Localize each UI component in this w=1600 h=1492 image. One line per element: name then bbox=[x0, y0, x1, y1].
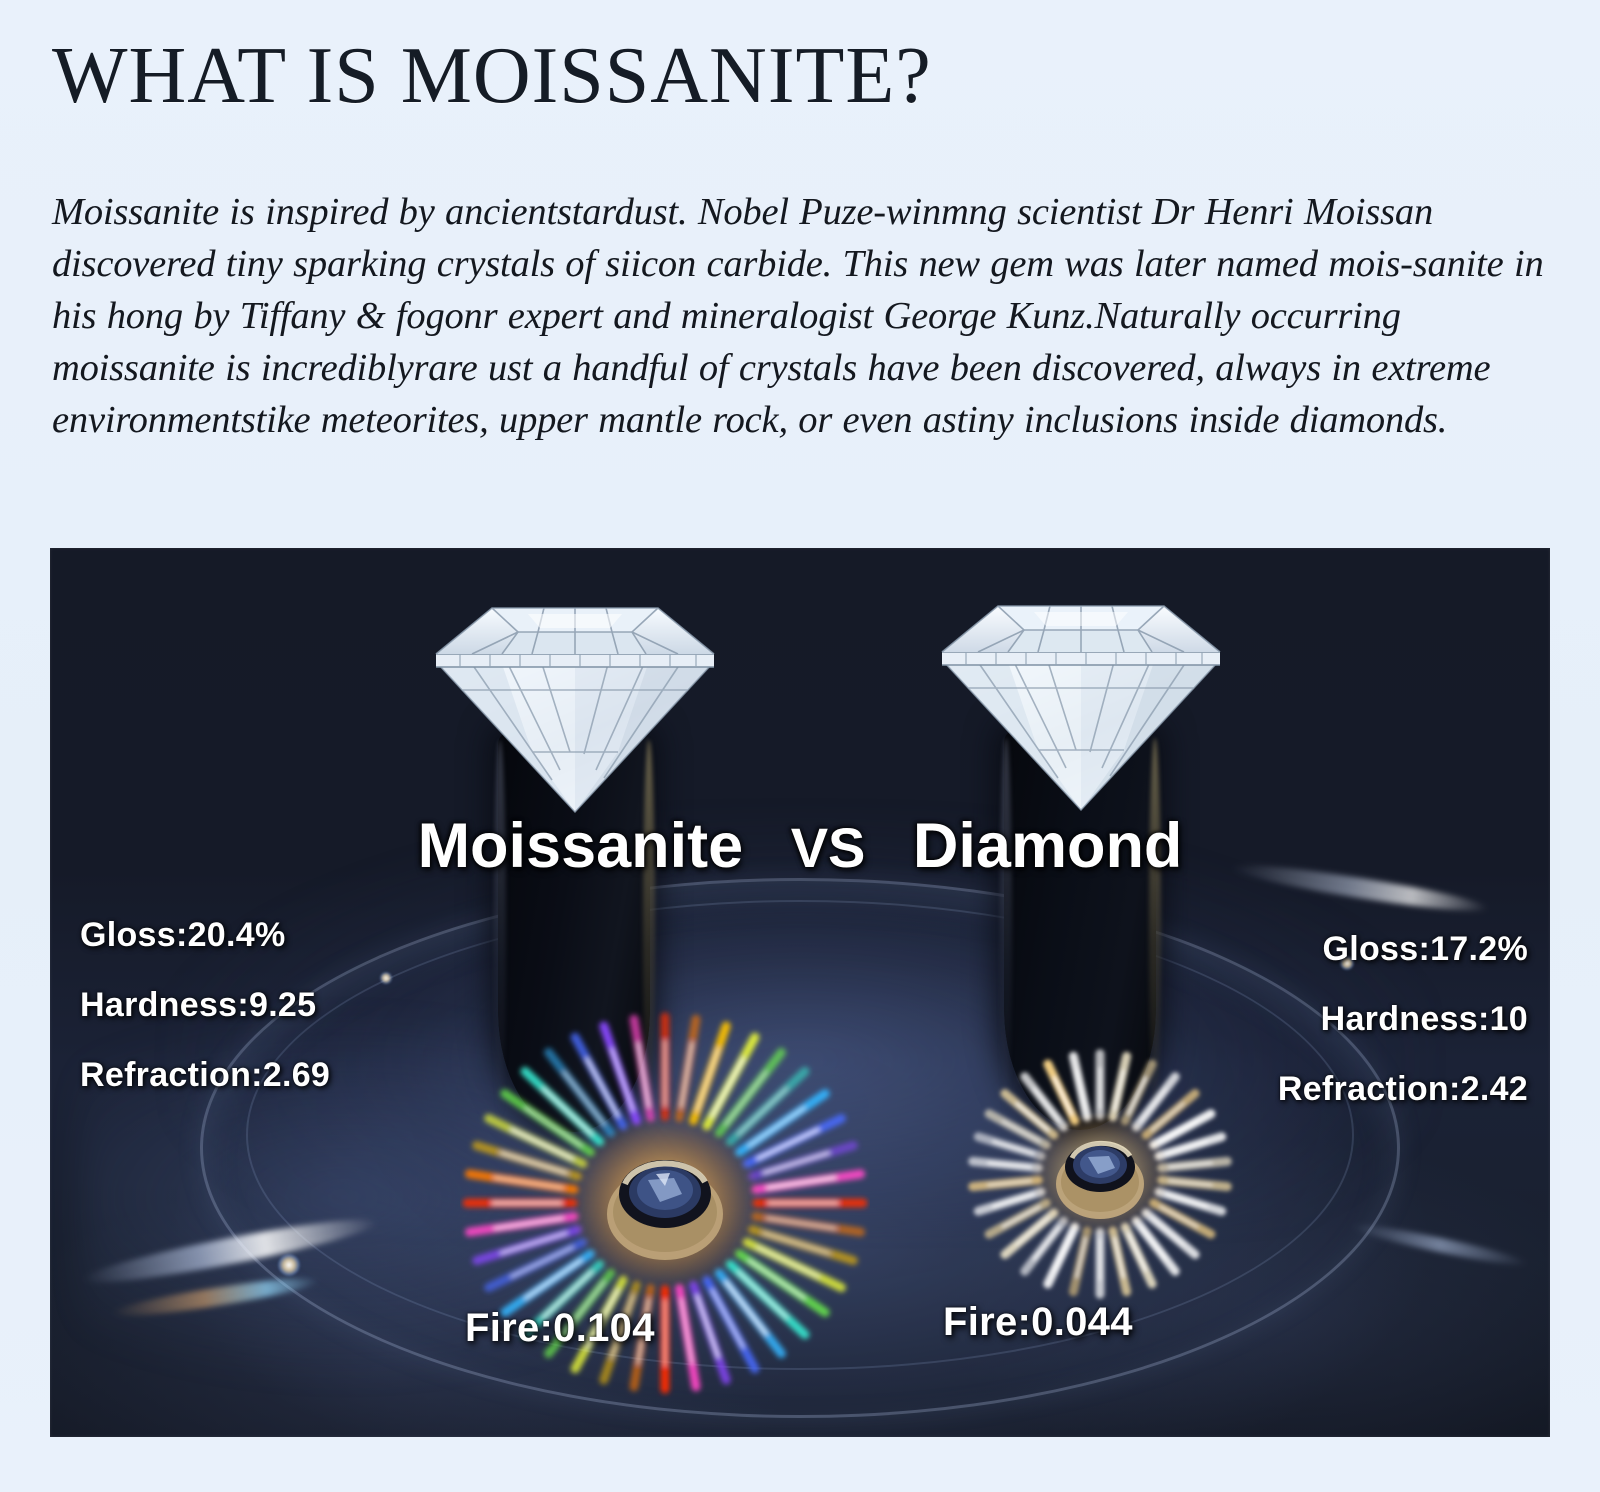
white-starburst-icon bbox=[955, 1026, 1245, 1316]
hero-right-name: Diamond bbox=[909, 811, 1187, 881]
moissanite-fire-label: Fire:0.104 bbox=[465, 1306, 655, 1351]
spec-refraction: Refraction:2.69 bbox=[80, 1056, 330, 1095]
hero-left-name: Moissanite bbox=[414, 811, 748, 881]
hero-heading: Moissanite VS Diamond bbox=[50, 810, 1550, 882]
comparison-hero-panel: Moissanite VS Diamond Gloss:20.4% Hardne… bbox=[50, 548, 1550, 1437]
moissanite-spec-list: Gloss:20.4% Hardness:9.25 Refraction:2.6… bbox=[80, 916, 330, 1126]
diamond-fire-label: Fire:0.044 bbox=[943, 1300, 1133, 1345]
diamond-gem-icon bbox=[432, 602, 718, 816]
diamond-gem-icon bbox=[938, 600, 1224, 814]
intro-paragraph: Moissanite is inspired by ancientstardus… bbox=[52, 186, 1552, 446]
page-title: WHAT IS MOISSANITE? bbox=[52, 36, 932, 116]
sparkle-icon bbox=[278, 1254, 300, 1276]
spec-hardness: Hardness:10 bbox=[1278, 1000, 1528, 1039]
spec-gloss: Gloss:20.4% bbox=[80, 916, 330, 955]
hero-separator: VS bbox=[765, 816, 892, 879]
sparkle-icon bbox=[380, 972, 392, 984]
light-streak bbox=[1351, 1219, 1530, 1270]
page-root: WHAT IS MOISSANITE? Moissanite is inspir… bbox=[0, 0, 1600, 1492]
diamond-spec-list: Gloss:17.2% Hardness:10 Refraction:2.42 bbox=[1278, 930, 1528, 1140]
spec-gloss: Gloss:17.2% bbox=[1278, 930, 1528, 969]
spec-refraction: Refraction:2.42 bbox=[1278, 1070, 1528, 1109]
spec-hardness: Hardness:9.25 bbox=[80, 986, 330, 1025]
